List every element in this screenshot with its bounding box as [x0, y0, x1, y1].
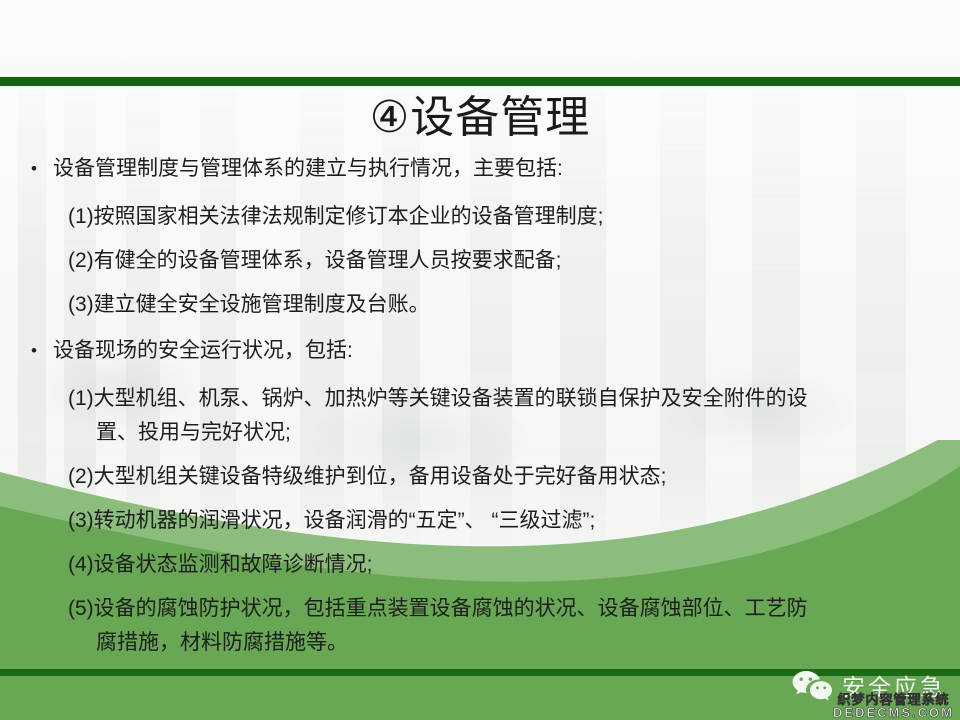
list-item: (2)有健全的设备管理体系，设备管理人员按要求配备; [0, 244, 960, 278]
list-item-label: (3)转动机器的润滑状况，设备润滑的“五定”、 “三级过滤”; [68, 509, 595, 532]
bullet-dot-icon: • [31, 334, 37, 368]
spacer [0, 234, 960, 244]
bullet-item-group1-heading: • 设备管理制度与管理体系的建立与执行情况，主要包括: [0, 152, 960, 186]
page-title: ④设备管理 [0, 92, 960, 144]
content-body: • 设备管理制度与管理体系的建立与执行情况，主要包括: (1)按照国家相关法律法… [0, 152, 960, 660]
spacer [0, 582, 960, 592]
list-item: (1)按照国家相关法律法规制定修订本企业的设备管理制度; [0, 200, 960, 234]
list-item-label: (5)设备的腐蚀防护状况，包括重点装置设备腐蚀的状况、设备腐蚀部位、工艺防 [68, 597, 808, 620]
bullet-label: 设备现场的安全运行状况，包括: [53, 339, 353, 362]
list-item: (1)大型机组、机泵、锅炉、加热炉等关键设备装置的联锁自保护及安全附件的设 置、… [0, 382, 960, 450]
spacer [0, 278, 960, 288]
list-item-continuation: 腐措施，材料防腐措施等。 [68, 626, 938, 660]
top-white-band [0, 0, 960, 77]
list-item-label: (1)大型机组、机泵、锅炉、加热炉等关键设备装置的联锁自保护及安全附件的设 [68, 387, 808, 410]
list-item-label: (2)有健全的设备管理体系，设备管理人员按要求配备; [68, 249, 562, 272]
slide-canvas: ④设备管理 • 设备管理制度与管理体系的建立与执行情况，主要包括: (1)按照国… [0, 0, 960, 720]
list-item: (5)设备的腐蚀防护状况，包括重点装置设备腐蚀的状况、设备腐蚀部位、工艺防 腐措… [0, 592, 960, 660]
list-item-label: (1)按照国家相关法律法规制定修订本企业的设备管理制度; [68, 205, 604, 228]
list-item: (4)设备状态监测和故障诊断情况; [0, 548, 960, 582]
list-item: (3)转动机器的润滑状况，设备润滑的“五定”、 “三级过滤”; [0, 504, 960, 538]
spacer [0, 322, 960, 334]
spacer [0, 494, 960, 504]
bullet-dot-icon: • [31, 152, 37, 186]
dedecms-en-label: DEDECMS.COM [833, 706, 954, 720]
dedecms-watermark: 织梦内容管理系统 DEDECMS.COM [833, 693, 954, 720]
list-item: (3)建立健全安全设施管理制度及台账。 [0, 288, 960, 322]
bullet-label: 设备管理制度与管理体系的建立与执行情况，主要包括: [53, 157, 563, 180]
dedecms-cn-label: 织梦内容管理系统 [833, 693, 954, 707]
list-item-label: (3)建立健全安全设施管理制度及台账。 [68, 293, 430, 316]
spacer [0, 450, 960, 460]
list-item-label: (4)设备状态监测和故障诊断情况; [68, 553, 373, 576]
list-item: (2)大型机组关键设备特级维护到位，备用设备处于完好备用状态; [0, 460, 960, 494]
spacer [0, 190, 960, 200]
spacer [0, 372, 960, 382]
spacer [0, 538, 960, 548]
bullet-item-group2-heading: • 设备现场的安全运行状况，包括: [0, 334, 960, 368]
list-item-continuation: 置、投用与完好状况; [68, 416, 938, 450]
list-item-label: (2)大型机组关键设备特级维护到位，备用设备处于完好备用状态; [68, 465, 667, 488]
wechat-icon [791, 669, 833, 701]
top-green-rule [0, 77, 960, 86]
